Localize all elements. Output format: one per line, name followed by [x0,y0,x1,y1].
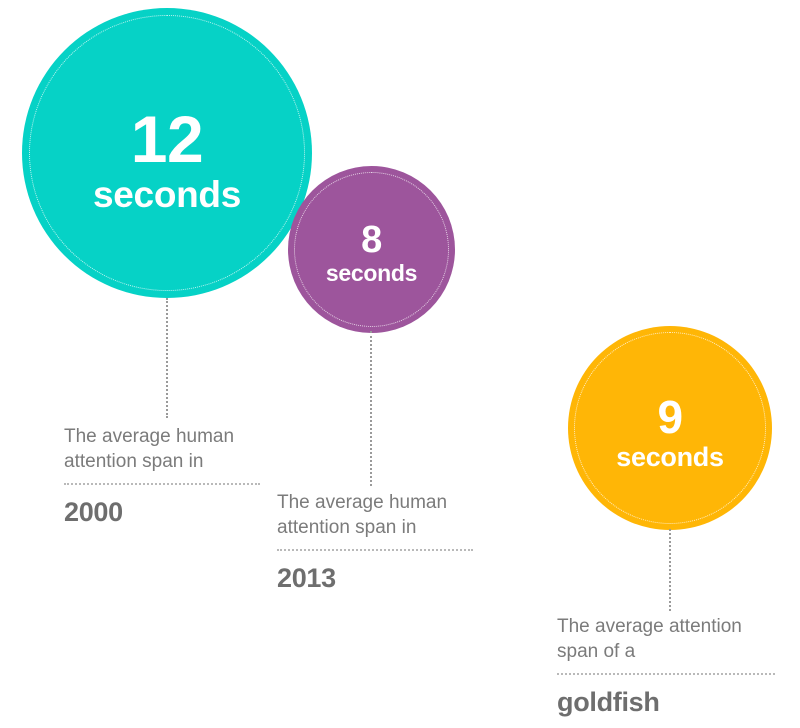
bubble-goldfish: 9 seconds [568,326,772,530]
caption-2013-divider [277,549,473,551]
bubble-2013-unit: seconds [326,262,417,285]
bubble-2013: 8 seconds [288,166,455,333]
caption-2000: The average human attention span in 2000 [64,424,260,528]
caption-goldfish: The average attention span of a goldfish [557,614,775,718]
attention-span-infographic: 12 seconds 8 seconds 9 seconds The avera… [0,0,800,728]
caption-2000-description: The average human attention span in [64,424,260,475]
caption-goldfish-description: The average attention span of a [557,614,775,665]
caption-2000-term: 2000 [64,497,260,528]
bubble-2000-unit: seconds [93,176,241,213]
caption-2013-term: 2013 [277,563,473,594]
caption-goldfish-divider [557,673,775,675]
bubble-goldfish-value: 9 [657,395,682,440]
bubble-2000: 12 seconds [22,8,312,298]
leader-line-2000 [166,298,168,418]
leader-line-goldfish [669,529,671,611]
caption-2013-description: The average human attention span in [277,490,473,541]
caption-2000-divider [64,483,260,485]
caption-2013: The average human attention span in 2013 [277,490,473,594]
bubble-goldfish-unit: seconds [616,444,723,471]
leader-line-2013 [370,331,372,486]
bubble-2000-value: 12 [131,107,203,172]
caption-goldfish-term: goldfish [557,687,775,718]
bubble-2013-value: 8 [361,222,382,259]
